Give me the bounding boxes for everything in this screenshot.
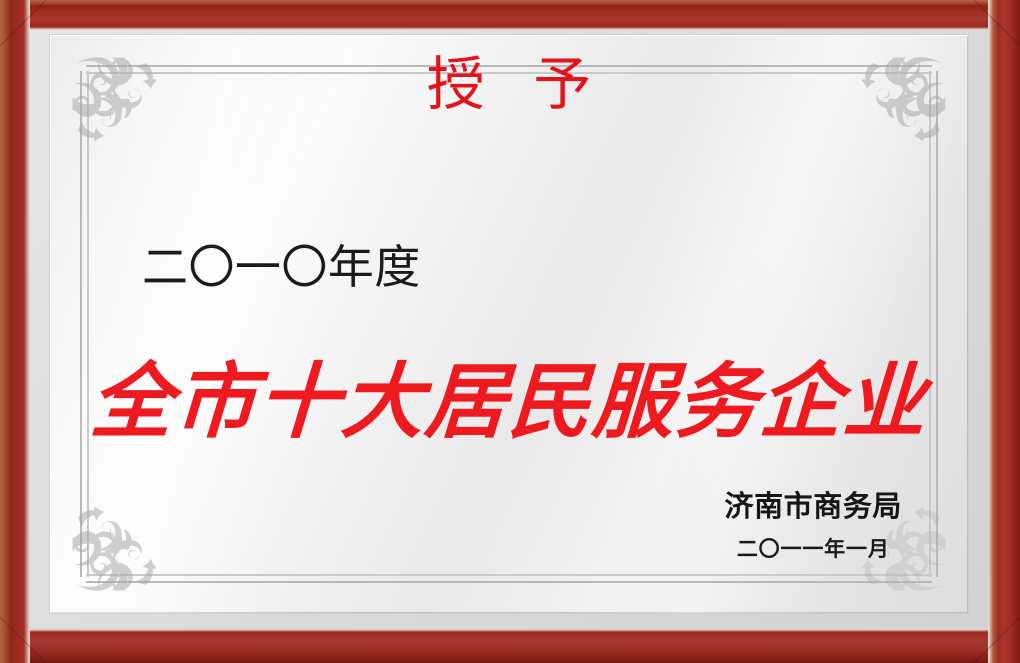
award-plaque: 授 予 二〇一〇年度 全市十大居民服务企业 济南市商务局 二〇一一年一月 bbox=[0, 0, 1020, 663]
signature-block: 济南市商务局 二〇一一年一月 bbox=[725, 488, 902, 563]
frame-bottom-rail bbox=[0, 628, 1020, 663]
issue-date-text: 二〇一一年一月 bbox=[725, 533, 902, 563]
frame-left-stile bbox=[0, 0, 30, 663]
award-title-text: 全市十大居民服务企业 bbox=[50, 335, 968, 454]
plaque-text-layer: 授 予 二〇一〇年度 全市十大居民服务企业 济南市商务局 二〇一一年一月 bbox=[50, 35, 968, 613]
award-year-text: 二〇一〇年度 bbox=[142, 231, 421, 297]
issuer-organization-text: 济南市商务局 bbox=[725, 488, 902, 524]
plaque-plate: 授 予 二〇一〇年度 全市十大居民服务企业 济南市商务局 二〇一一年一月 bbox=[50, 35, 968, 613]
frame-top-rail bbox=[0, 0, 1020, 30]
award-verb-text: 授 予 bbox=[50, 53, 968, 117]
frame-right-stile bbox=[988, 0, 1020, 663]
